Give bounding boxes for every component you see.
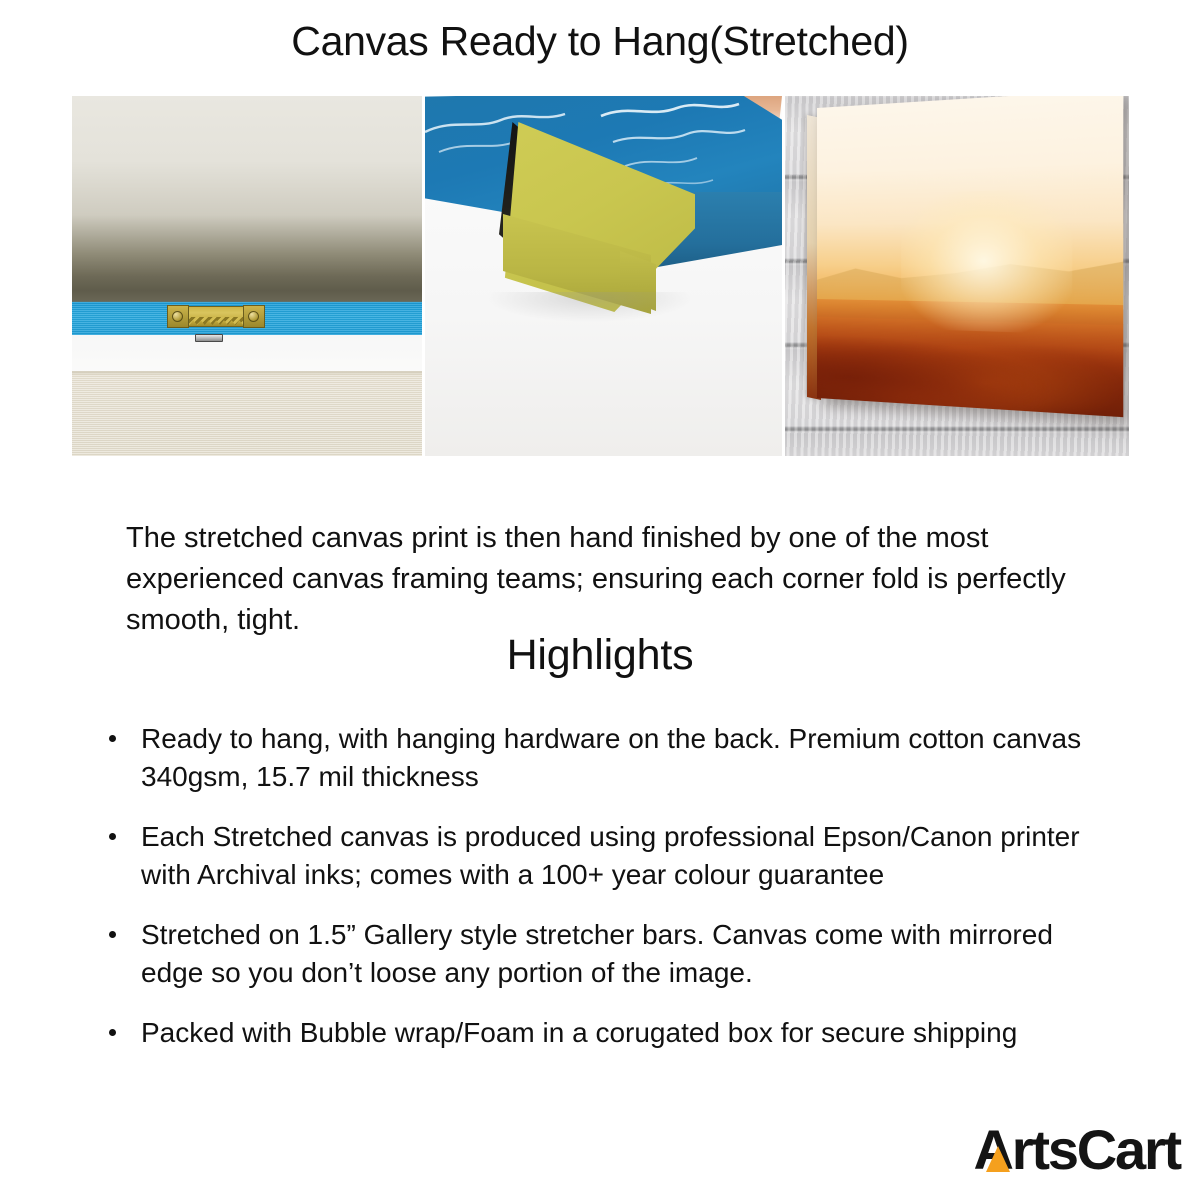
photo-hanging-canvas bbox=[785, 96, 1129, 456]
bullet-dot-icon bbox=[109, 735, 116, 742]
canvas-surface-edge-shadow bbox=[72, 371, 422, 376]
highlights-heading: Highlights bbox=[0, 631, 1200, 680]
list-item-text: Each Stretched canvas is produced using … bbox=[141, 821, 1080, 890]
hanger-screw-left bbox=[172, 311, 183, 322]
list-item: Each Stretched canvas is produced using … bbox=[104, 818, 1114, 894]
brand-logo: ArtsCart bbox=[974, 1122, 1180, 1178]
orange-triangle-icon bbox=[986, 1146, 1010, 1172]
product-photo-strip bbox=[72, 96, 1129, 456]
bullet-dot-icon bbox=[109, 931, 116, 938]
sawtooth-hanger-icon bbox=[167, 305, 263, 327]
hanger-bar bbox=[181, 306, 251, 327]
list-item-text: Ready to hang, with hanging hardware on … bbox=[141, 723, 1081, 792]
hanger-plate-right bbox=[243, 305, 265, 328]
list-item: Ready to hang, with hanging hardware on … bbox=[104, 720, 1114, 796]
hanger-plate-left bbox=[167, 305, 189, 328]
hanger-metal-clip bbox=[195, 334, 223, 342]
list-item-text: Packed with Bubble wrap/Foam in a coruga… bbox=[141, 1017, 1017, 1048]
corner-fold-drop-shadow bbox=[485, 292, 695, 322]
list-item: Stretched on 1.5” Gallery style stretche… bbox=[104, 916, 1114, 992]
landscape-sun-glow bbox=[901, 189, 1072, 334]
canvas-cotton-surface bbox=[72, 371, 422, 456]
intro-paragraph: The stretched canvas print is then hand … bbox=[126, 518, 1076, 641]
list-item-text: Stretched on 1.5” Gallery style stretche… bbox=[141, 919, 1053, 988]
photo-canvas-back-hanger bbox=[72, 96, 422, 456]
bullet-dot-icon bbox=[109, 1029, 116, 1036]
bullet-dot-icon bbox=[109, 833, 116, 840]
photo-corner-fold bbox=[425, 96, 782, 456]
highlights-list: Ready to hang, with hanging hardware on … bbox=[104, 720, 1114, 1074]
hanger-screw-right bbox=[248, 311, 259, 322]
canvas-white-band bbox=[72, 335, 422, 375]
list-item: Packed with Bubble wrap/Foam in a coruga… bbox=[104, 1014, 1114, 1052]
page-title: Canvas Ready to Hang(Stretched) bbox=[0, 18, 1200, 65]
sunset-landscape-print bbox=[817, 96, 1123, 417]
